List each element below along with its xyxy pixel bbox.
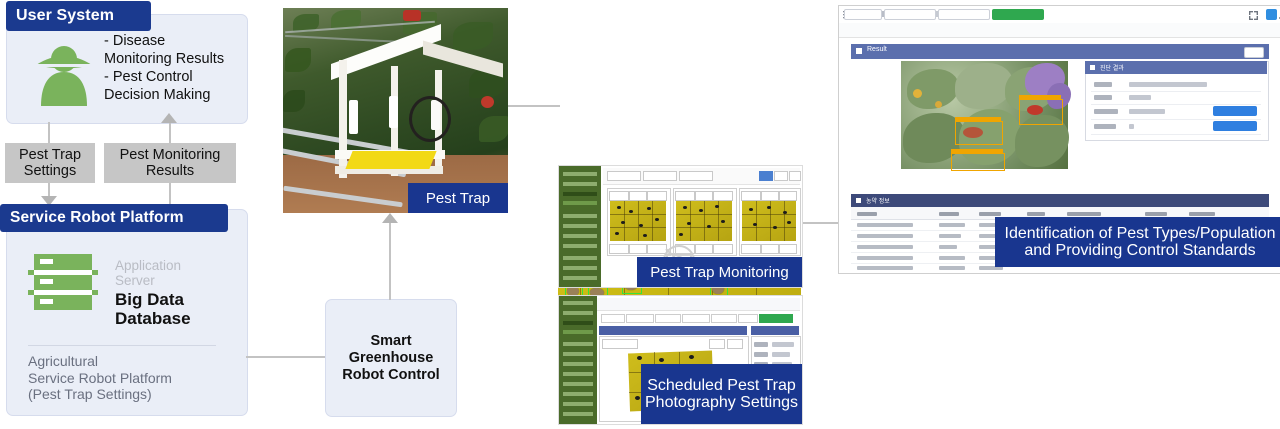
settings-tab[interactable] [601, 314, 625, 323]
pest-trap-settings-box: Pest Trap Settings [5, 143, 95, 183]
card-field [779, 191, 797, 201]
sidebar-item[interactable] [563, 266, 597, 270]
card-field [675, 191, 695, 201]
pest-trap-settings-line2: Settings [19, 163, 81, 179]
card-field [713, 191, 733, 201]
table-panel-header: 농약 정보 [851, 194, 1269, 207]
settings-tab[interactable] [655, 314, 681, 323]
pest-trap-caption: Pest Trap [408, 183, 508, 213]
card-field [741, 244, 761, 254]
smart-greenhouse-robot-control-box: Smart Greenhouse Robot Control [325, 299, 457, 417]
settings-tab[interactable] [626, 314, 654, 323]
card-field [741, 191, 761, 201]
sidebar-item[interactable] [563, 234, 597, 238]
card-field [629, 244, 647, 254]
tab-active[interactable] [992, 9, 1044, 20]
app-square-icon[interactable] [1266, 9, 1277, 20]
sidebar-item[interactable] [563, 412, 593, 416]
scheduled-photography-caption: Scheduled Pest Trap Photography Settings [641, 364, 802, 424]
settings-tab[interactable] [682, 314, 710, 323]
table-panel-title: 농약 정보 [866, 196, 890, 205]
panel-button[interactable] [709, 339, 725, 349]
table-column-header [1067, 212, 1101, 216]
tab[interactable] [938, 9, 990, 20]
reset-button[interactable] [774, 171, 788, 181]
identification-caption: Identification of Pest Types/Population … [995, 217, 1280, 267]
sidebar-item[interactable] [563, 244, 597, 248]
sidebar-item-active[interactable] [563, 201, 597, 205]
platform-footer-line2: Service Robot Platform [28, 370, 172, 387]
identification-caption-line1: Identification of Pest Types/Population [1005, 225, 1276, 242]
sidebar-item-active[interactable] [563, 192, 597, 196]
connector-trap-to-identification [508, 105, 560, 107]
sidebar-item[interactable] [563, 182, 597, 186]
sidebar-item[interactable] [563, 352, 593, 356]
panel-button[interactable] [727, 339, 743, 349]
application-server-line2: Server [115, 273, 181, 288]
service-robot-platform-header: Service Robot Platform [0, 204, 228, 232]
export-button[interactable] [789, 171, 801, 181]
sidebar-item[interactable] [563, 301, 593, 305]
info-panel-header [751, 326, 799, 335]
app-tabbar [839, 23, 1280, 38]
filter-select[interactable] [607, 171, 641, 181]
table-column-header [1145, 212, 1167, 216]
card-field [761, 191, 779, 201]
scheduled-caption-line1: Scheduled Pest Trap [645, 377, 798, 394]
farmer-icon [30, 38, 98, 108]
panel-icon [856, 48, 862, 54]
robot-control-line3: Robot Control [342, 367, 439, 384]
user-bullet-1: Monitoring Results [104, 50, 244, 68]
user-bullet-2: - Pest Control [104, 68, 244, 86]
identification-caption-line2: and Providing Control Standards [1005, 242, 1276, 259]
card-field [695, 191, 713, 201]
sidebar-item[interactable] [563, 372, 593, 376]
connector-usersystem-to-settings [48, 122, 50, 143]
robot-control-line1: Smart [342, 333, 439, 350]
sidebar-item[interactable] [563, 214, 597, 218]
pest-trap-photo: Pest Trap [283, 8, 508, 213]
pest-trap-monitoring-caption: Pest Trap Monitoring [637, 257, 802, 287]
card-field [713, 244, 733, 254]
platform-footer-line1: Agricultural [28, 353, 172, 370]
filter-select[interactable] [643, 171, 677, 181]
sidebar-item[interactable] [563, 362, 593, 366]
scheduled-photography-screenshot: Scheduled Pest Trap Photography Settings [558, 295, 803, 425]
application-server-label: Application Server [115, 258, 181, 288]
sidebar-item[interactable] [563, 311, 593, 315]
application-server-line1: Application [115, 258, 181, 273]
table-column-header [1189, 212, 1215, 216]
panel-field[interactable] [602, 339, 638, 349]
detail-panel-header: 진단 결과 [1085, 61, 1267, 74]
connector-platform-to-robot-control [246, 356, 326, 358]
card-field [629, 191, 647, 201]
card-field [647, 191, 667, 201]
settings-tab[interactable] [738, 314, 758, 323]
panel-icon [1090, 65, 1095, 70]
pest-monitoring-results-line2: Results [120, 163, 221, 179]
panel-icon [856, 198, 861, 203]
pest-monitoring-results-line1: Pest Monitoring [120, 147, 221, 163]
connector-robot-control-to-trap [389, 222, 391, 300]
card-field [779, 244, 797, 254]
sidebar-item[interactable] [563, 224, 597, 228]
pest-monitoring-results-box: Pest Monitoring Results [104, 143, 236, 183]
card-field [761, 244, 779, 254]
big-data-line2: Database [115, 309, 191, 328]
big-data-database-label: Big Data Database [115, 290, 191, 328]
card-field [609, 244, 629, 254]
platform-footer-label: Agricultural Service Robot Platform (Pes… [28, 353, 172, 403]
card-field [609, 191, 629, 201]
sidebar-item-active[interactable] [563, 321, 593, 325]
settings-tab[interactable] [711, 314, 737, 323]
connector-monitoring-to-app [801, 222, 841, 224]
arrow-up-to-user-system [161, 113, 177, 123]
table-column-header [857, 212, 877, 216]
pest-trap-settings-line1: Pest Trap [19, 147, 81, 163]
detail-button-0[interactable] [1213, 106, 1257, 116]
tab[interactable] [884, 9, 936, 20]
user-bullet-0: - Disease [104, 32, 244, 50]
tab[interactable] [844, 9, 882, 20]
sidebar-item[interactable] [563, 256, 597, 260]
crop-diagnosis-image [901, 61, 1068, 169]
table-column-header [939, 212, 959, 216]
user-system-bullets: - Disease Monitoring Results - Pest Cont… [104, 32, 244, 104]
search-button[interactable] [1244, 47, 1264, 58]
sidebar-item[interactable] [563, 402, 593, 406]
sidebar-item[interactable] [563, 342, 593, 346]
sidebar-item-active[interactable] [563, 330, 593, 334]
fullscreen-icon[interactable] [1249, 11, 1258, 20]
panel-header [599, 326, 747, 335]
sidebar-item[interactable] [563, 172, 597, 176]
sidebar-item[interactable] [563, 382, 593, 386]
settings-tab-active[interactable] [759, 314, 793, 323]
settings-titlebar [597, 298, 800, 311]
table-column-header [1027, 212, 1045, 216]
sidebar-item[interactable] [563, 276, 597, 280]
pest-trap-monitoring-screenshot: Pest Trap Monitoring [558, 165, 803, 288]
sidebar-item[interactable] [563, 392, 593, 396]
connector-results-to-usersystem [169, 122, 171, 143]
result-panel-header: Result [851, 44, 1269, 59]
big-data-line1: Big Data [115, 290, 191, 309]
platform-footer-line3: (Pest Trap Settings) [28, 386, 172, 403]
user-bullet-3: Decision Making [104, 86, 244, 104]
detail-panel-title: 진단 결과 [1100, 63, 1124, 72]
platform-divider [28, 345, 216, 346]
filter-select[interactable] [679, 171, 713, 181]
table-column-header [979, 212, 1001, 216]
detail-button-1[interactable] [1213, 121, 1257, 131]
scheduled-caption-line2: Photography Settings [645, 394, 798, 411]
server-rack-icon [28, 252, 98, 314]
result-panel-title: Result [867, 46, 887, 53]
search-button[interactable] [759, 171, 773, 181]
user-system-header: User System [6, 1, 151, 31]
robot-control-line2: Greenhouse [342, 350, 439, 367]
arrow-up-to-pest-trap [382, 213, 398, 223]
